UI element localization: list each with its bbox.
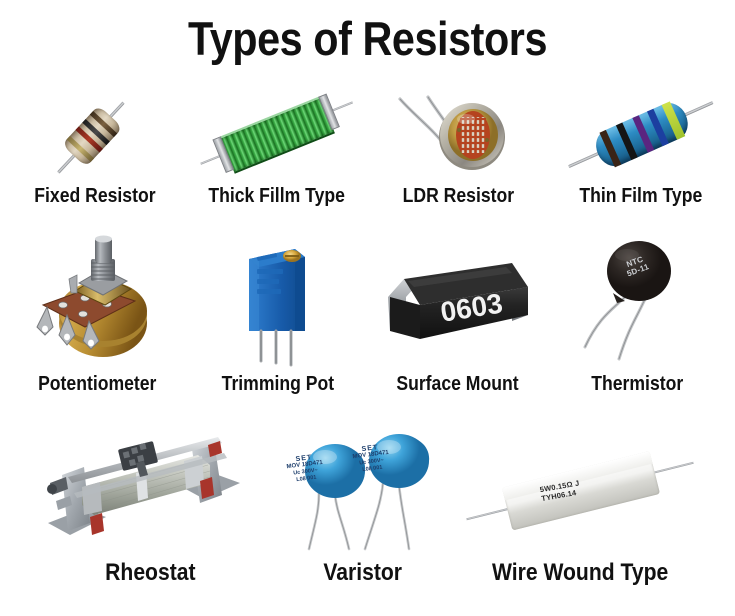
- resistor-row-2: Potentiometer: [0, 232, 735, 394]
- item-fixed-resistor[interactable]: Fixed Resistor: [4, 86, 186, 206]
- lead-icon: [568, 151, 600, 168]
- item-thin-film-type[interactable]: Thin Film Type: [550, 86, 732, 206]
- ldr-art: [368, 89, 550, 181]
- surface-mount-art: 0603: [368, 235, 548, 369]
- item-label-wire-wound-type: Wire Wound Type: [492, 561, 668, 585]
- resistor-body: [219, 96, 334, 174]
- item-label-potentiometer: Potentiometer: [38, 374, 156, 394]
- item-label-trimming-pot: Trimming Pot: [221, 374, 333, 394]
- trimming-pot-image: [213, 235, 343, 369]
- fixed-resistor-image: [20, 89, 170, 181]
- item-label-ldr-resistor: LDR Resistor: [403, 186, 514, 206]
- item-trimming-pot[interactable]: Trimming Pot: [188, 232, 368, 394]
- item-thermistor[interactable]: NTC 5D-11 Thermistor: [548, 232, 728, 394]
- poster-root: Types of Resistors: [0, 0, 735, 616]
- resistor-body: [590, 98, 693, 172]
- item-wire-wound-type[interactable]: 5W0.15Ω J TYH06.14 Wire Wound Type: [450, 425, 710, 585]
- thick-film-resistor-image: [197, 89, 357, 181]
- item-rheostat[interactable]: Rheostat: [25, 425, 275, 585]
- ldr-resistor-image: [384, 85, 534, 185]
- thin-film-art: [550, 89, 732, 181]
- rheostat-image: [32, 431, 268, 551]
- color-band-icon: [599, 130, 621, 168]
- resistor-row-3: Rheostat: [0, 425, 735, 585]
- thin-film-resistor-image: [561, 89, 721, 181]
- varistor-marking-right: SET MOV 18D471 Uc 300V~ L08 001: [351, 443, 391, 475]
- item-label-varistor: Varistor: [323, 561, 402, 585]
- wire-wound-resistor-image: 5W0.15Ω J TYH06.14: [455, 431, 705, 551]
- item-label-thick-film-type: Thick Fillm Type: [208, 186, 345, 206]
- item-label-fixed-resistor: Fixed Resistor: [34, 186, 155, 206]
- rheostat-art: [25, 431, 275, 551]
- item-label-surface-mount: Surface Mount: [396, 374, 518, 394]
- item-label-rheostat: Rheostat: [105, 561, 195, 585]
- smd-resistor-image: 0603: [378, 235, 538, 369]
- page-title: Types of Resistors: [44, 14, 691, 63]
- trimming-pot-art: [188, 235, 368, 369]
- varistor-marking-left: SET MOV 18D471 Uc 300V~ L08 001: [285, 453, 325, 485]
- wire-wound-art: 5W0.15Ω J TYH06.14: [450, 431, 710, 551]
- item-label-thin-film-type: Thin Film Type: [579, 186, 702, 206]
- potentiometer-image: [23, 235, 173, 369]
- color-band-icon: [615, 123, 637, 161]
- varistor-art: SET MOV 18D471 Uc 300V~ L08 001 SET MOV …: [275, 431, 450, 551]
- thermistor-image: NTC 5D-11: [573, 235, 703, 369]
- fixed-resistor-art: [4, 89, 186, 181]
- varistor-image: SET MOV 18D471 Uc 300V~ L08 001 SET MOV …: [279, 431, 447, 551]
- thick-film-art: [186, 89, 368, 181]
- item-thick-film-type[interactable]: Thick Fillm Type: [186, 86, 368, 206]
- item-potentiometer[interactable]: Potentiometer: [8, 232, 188, 394]
- item-surface-mount[interactable]: 0603 Surface Mount: [368, 232, 548, 394]
- item-label-thermistor: Thermistor: [592, 374, 684, 394]
- item-ldr-resistor[interactable]: LDR Resistor: [368, 86, 550, 206]
- potentiometer-art: [8, 235, 188, 369]
- thermistor-art: NTC 5D-11: [548, 235, 728, 369]
- resistor-row-1: Fixed Resistor Thick Fillm Type: [0, 86, 735, 206]
- item-varistor[interactable]: SET MOV 18D471 Uc 300V~ L08 001 SET MOV …: [275, 425, 450, 585]
